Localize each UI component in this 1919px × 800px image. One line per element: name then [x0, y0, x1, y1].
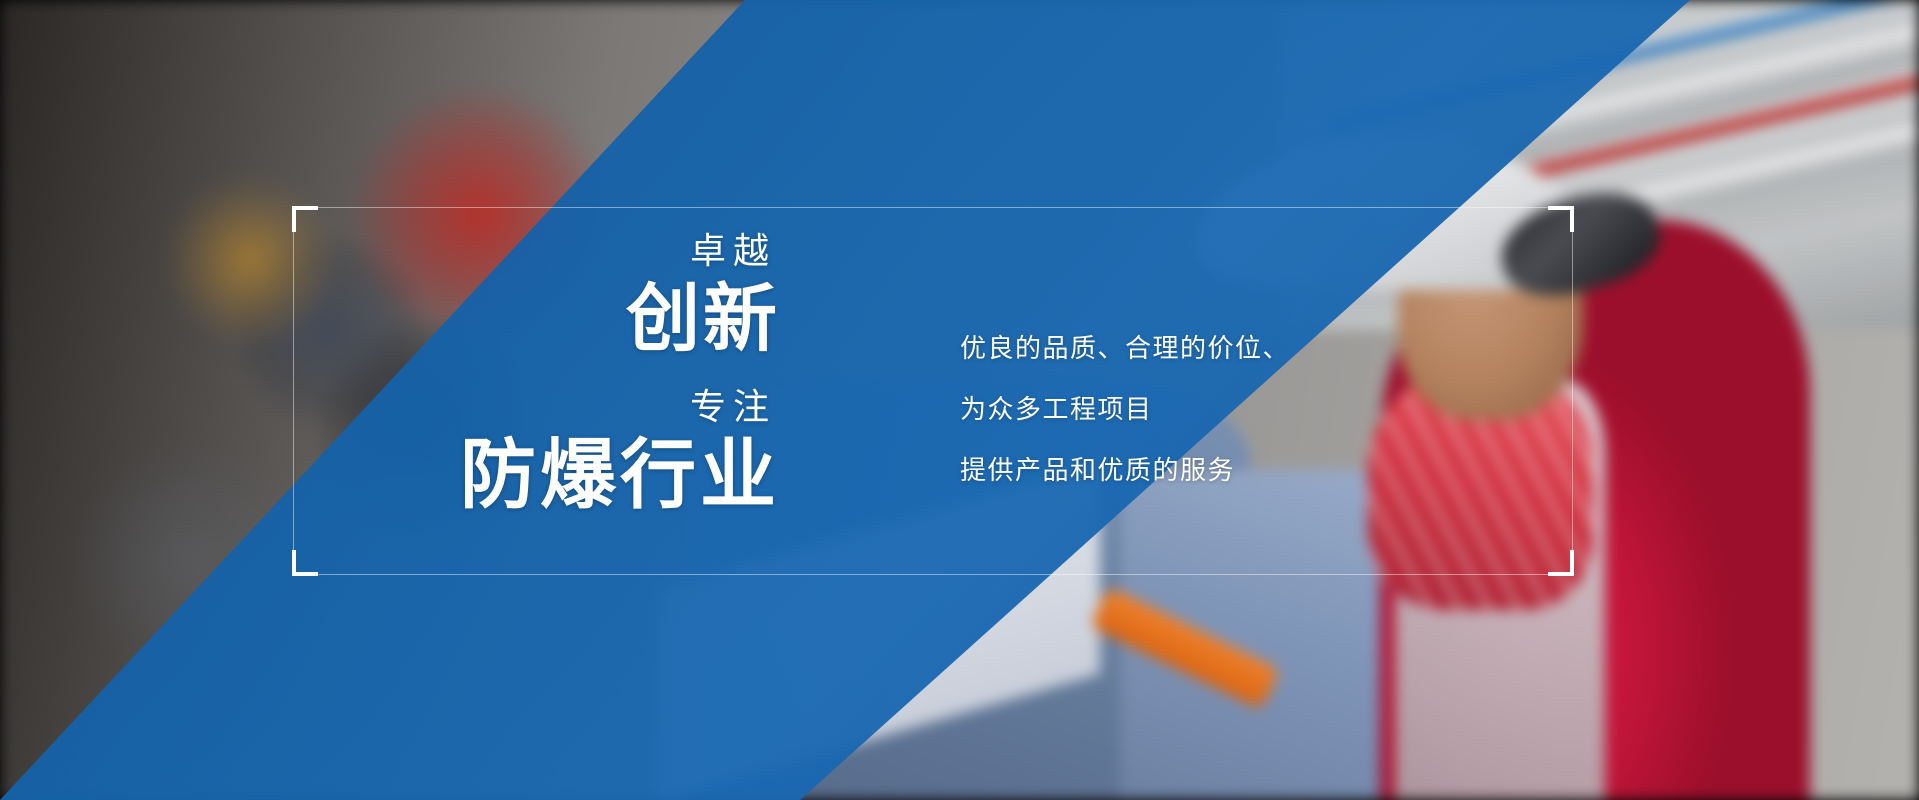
headline-primary-one: 创新: [380, 275, 780, 362]
copy-line-3: 提供产品和优质的服务: [960, 440, 1480, 501]
supporting-copy-block: 优良的品质、合理的价位、 为众多工程项目 提供产品和优质的服务: [960, 318, 1480, 501]
copy-line-2: 为众多工程项目: [960, 379, 1480, 440]
headline-eyebrow-two: 专注: [380, 384, 780, 429]
headline-eyebrow-one: 卓越: [380, 228, 780, 273]
hero-banner: 卓越 创新 专注 防爆行业 优良的品质、合理的价位、 为众多工程项目 提供产品和…: [0, 0, 1919, 800]
headline-primary-two: 防爆行业: [380, 431, 780, 521]
copy-line-1: 优良的品质、合理的价位、: [960, 318, 1480, 379]
headline-block: 卓越 创新 专注 防爆行业: [380, 228, 780, 521]
